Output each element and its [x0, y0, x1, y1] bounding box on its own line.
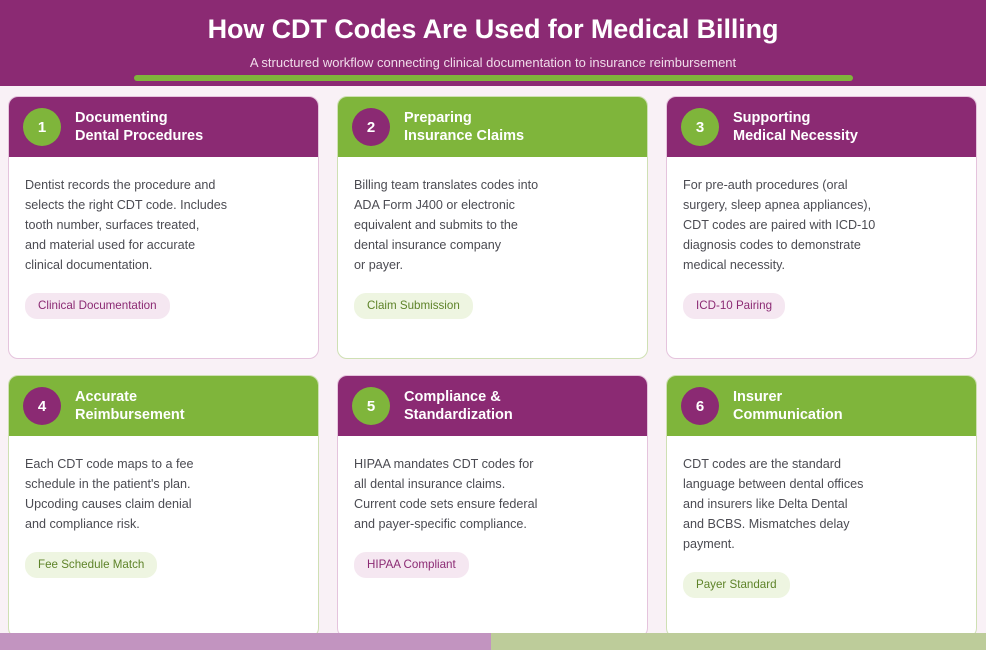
card-title: Insurer Communication [733, 388, 843, 424]
workflow-card[interactable]: 3Supporting Medical NecessityFor pre-aut… [666, 96, 977, 359]
card-title: Accurate Reimbursement [75, 388, 185, 424]
card-description: CDT codes are the standard language betw… [683, 454, 960, 554]
footer-bar [0, 633, 986, 650]
card-tag-pill[interactable]: ICD-10 Pairing [683, 293, 785, 319]
header-accent-bar [134, 75, 853, 81]
card-title: Preparing Insurance Claims [404, 109, 524, 145]
card-description: For pre-auth procedures (oral surgery, s… [683, 175, 960, 275]
workflow-card[interactable]: 4Accurate ReimbursementEach CDT code map… [8, 375, 319, 638]
card-description: Dentist records the procedure and select… [25, 175, 302, 275]
step-number-badge: 1 [23, 108, 61, 146]
card-tag-pill[interactable]: HIPAA Compliant [354, 552, 469, 578]
card-header: 2Preparing Insurance Claims [338, 97, 647, 157]
card-title: Supporting Medical Necessity [733, 109, 858, 145]
card-body: Billing team translates codes into ADA F… [338, 157, 647, 358]
workflow-card[interactable]: 5Compliance & StandardizationHIPAA manda… [337, 375, 648, 638]
card-body: HIPAA mandates CDT codes for all dental … [338, 436, 647, 637]
page-subtitle: A structured workflow connecting clinica… [0, 46, 986, 72]
card-body: For pre-auth procedures (oral surgery, s… [667, 157, 976, 358]
page-title: How CDT Codes Are Used for Medical Billi… [0, 0, 986, 46]
workflow-card[interactable]: 2Preparing Insurance ClaimsBilling team … [337, 96, 648, 359]
card-title: Documenting Dental Procedures [75, 109, 203, 145]
footer-bar-right-segment [491, 633, 986, 650]
card-tag-pill[interactable]: Claim Submission [354, 293, 473, 319]
page-header: How CDT Codes Are Used for Medical Billi… [0, 0, 986, 86]
step-number-badge: 3 [681, 108, 719, 146]
card-header: 6Insurer Communication [667, 376, 976, 436]
workflow-card-grid: 1Documenting Dental ProceduresDentist re… [8, 96, 978, 638]
step-number-badge: 5 [352, 387, 390, 425]
card-tag-pill[interactable]: Fee Schedule Match [25, 552, 157, 578]
card-body: CDT codes are the standard language betw… [667, 436, 976, 637]
card-tag-pill[interactable]: Clinical Documentation [25, 293, 170, 319]
card-description: Billing team translates codes into ADA F… [354, 175, 631, 275]
card-header: 4Accurate Reimbursement [9, 376, 318, 436]
footer-bar-left-segment [0, 633, 491, 650]
workflow-card[interactable]: 6Insurer CommunicationCDT codes are the … [666, 375, 977, 638]
card-header: 3Supporting Medical Necessity [667, 97, 976, 157]
step-number-badge: 6 [681, 387, 719, 425]
card-body: Dentist records the procedure and select… [9, 157, 318, 358]
workflow-card[interactable]: 1Documenting Dental ProceduresDentist re… [8, 96, 319, 359]
card-header: 1Documenting Dental Procedures [9, 97, 318, 157]
card-description: Each CDT code maps to a fee schedule in … [25, 454, 302, 534]
card-tag-pill[interactable]: Payer Standard [683, 572, 790, 598]
card-title: Compliance & Standardization [404, 388, 513, 424]
card-body: Each CDT code maps to a fee schedule in … [9, 436, 318, 637]
step-number-badge: 4 [23, 387, 61, 425]
card-description: HIPAA mandates CDT codes for all dental … [354, 454, 631, 534]
step-number-badge: 2 [352, 108, 390, 146]
card-header: 5Compliance & Standardization [338, 376, 647, 436]
